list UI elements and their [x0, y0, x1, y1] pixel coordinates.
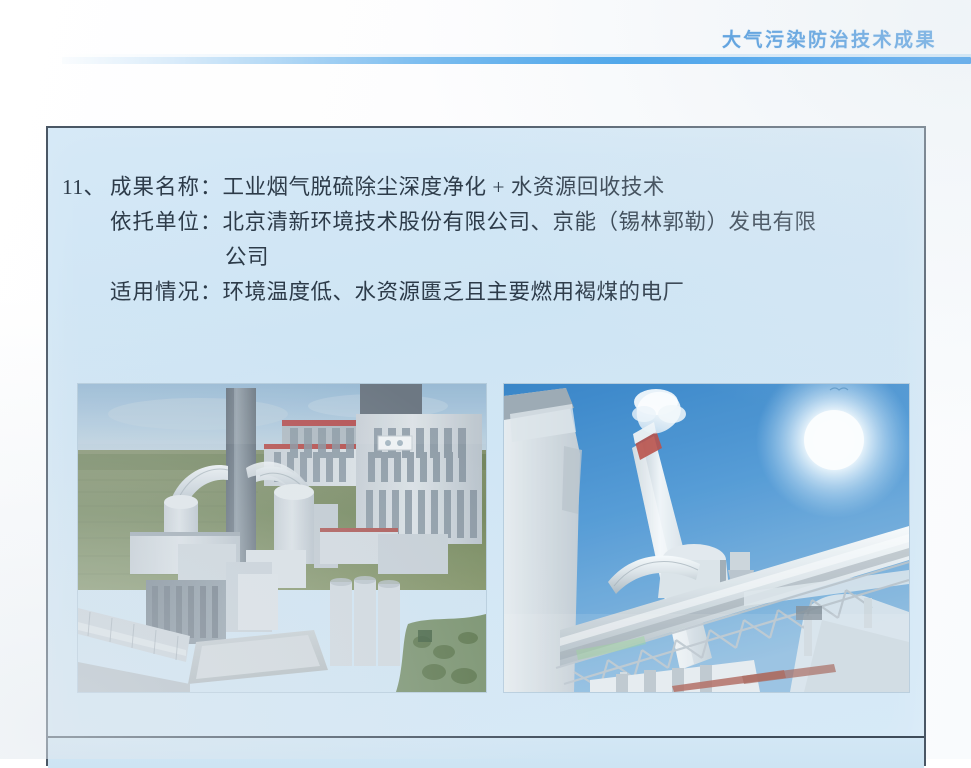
entry-label-organization: 依托单位：	[110, 205, 223, 240]
photo-row	[78, 384, 913, 694]
power-plant-aerial-photo	[78, 384, 486, 692]
entry-value-name: 工业烟气脱硫除尘深度净化 + 水资源回收技术	[223, 170, 665, 205]
entry-value-organization: 北京清新环境技术股份有限公司、京能（锡林郭勒）发电有限	[223, 205, 817, 240]
chimney-plume-photo	[504, 384, 909, 692]
entry-row-organization: 依托单位： 北京清新环境技术股份有限公司、京能（锡林郭勒）发电有限	[62, 205, 912, 240]
header-rule-divider	[62, 57, 971, 64]
entry-row-application: 适用情况： 环境温度低、水资源匮乏且主要燃用褐煤的电厂	[62, 275, 912, 310]
document-page: 大气污染防治技术成果 11、 成果名称： 工业烟气脱硫除尘深度净化 + 水资源回…	[0, 0, 971, 759]
entry-row-name: 11、 成果名称： 工业烟气脱硫除尘深度净化 + 水资源回收技术	[62, 170, 912, 205]
entry-label-application: 适用情况：	[110, 275, 223, 310]
entry-label-name: 成果名称：	[110, 170, 223, 205]
next-entry-band	[48, 738, 924, 768]
page-header: 大气污染防治技术成果	[0, 0, 971, 80]
content-frame: 11、 成果名称： 工业烟气脱硫除尘深度净化 + 水资源回收技术 依托单位： 北…	[46, 126, 926, 766]
entry-value-organization-continued: 公司	[225, 240, 269, 275]
entry-number: 11、	[62, 170, 110, 205]
entry-value-application: 环境温度低、水资源匮乏且主要燃用褐煤的电厂	[223, 275, 685, 310]
header-title: 大气污染防治技术成果	[722, 25, 937, 52]
entry-text-block: 11、 成果名称： 工业烟气脱硫除尘深度净化 + 水资源回收技术 依托单位： 北…	[62, 170, 912, 310]
entry-row-organization-continued: 公司	[62, 240, 912, 275]
